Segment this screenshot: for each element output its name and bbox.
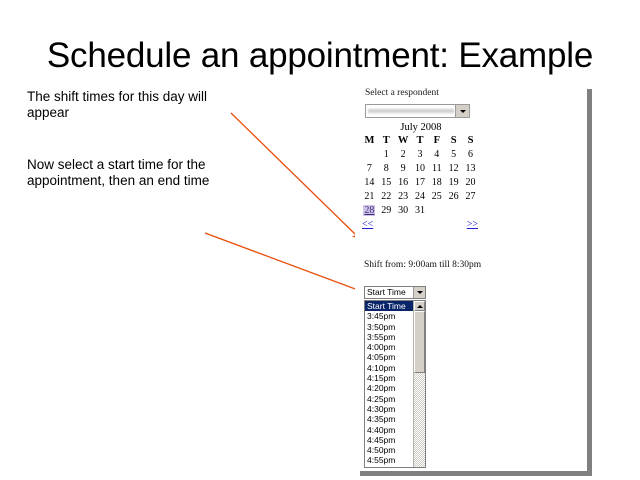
calendar-day-selected[interactable]: 28 xyxy=(361,203,378,217)
calendar-day-selected-label: 28 xyxy=(363,205,375,216)
calendar-day[interactable]: 15 xyxy=(378,175,395,189)
calendar-day[interactable]: 20 xyxy=(462,175,479,189)
calendar-day xyxy=(428,203,445,217)
calendar-day[interactable]: 25 xyxy=(428,189,445,203)
weekday-header: T xyxy=(378,134,395,147)
annotation-note-1: The shift times for this day will appear xyxy=(27,89,242,121)
list-item[interactable]: Start Time xyxy=(365,301,413,311)
calendar-day[interactable]: 18 xyxy=(428,175,445,189)
calendar-day[interactable]: 14 xyxy=(361,175,378,189)
arrow-to-calendar xyxy=(231,113,356,235)
weekday-header: W xyxy=(395,134,412,147)
chevron-down-icon[interactable] xyxy=(413,287,425,298)
list-item[interactable]: 4:10pm xyxy=(365,363,413,373)
respondent-value xyxy=(368,107,454,115)
list-item[interactable]: 3:45pm xyxy=(365,311,413,321)
calendar-navigation: << >> xyxy=(361,219,479,233)
arrow-to-time-list xyxy=(205,233,358,290)
start-time-options: Start Time 3:45pm 3:50pm 3:55pm 4:00pm 4… xyxy=(365,301,413,467)
list-item[interactable]: 4:50pm xyxy=(365,445,413,455)
calendar-day[interactable]: 3 xyxy=(412,147,429,161)
calendar-week-row: 14 15 16 17 18 19 20 xyxy=(361,175,479,189)
triangle-up-icon[interactable] xyxy=(414,301,425,311)
calendar-day[interactable]: 6 xyxy=(462,147,479,161)
calendar-day[interactable]: 5 xyxy=(445,147,462,161)
slide-canvas: Schedule an appointment: Example The shi… xyxy=(0,0,640,480)
page-title: Schedule an appointment: Example xyxy=(0,36,640,76)
start-time-select[interactable]: Start Time xyxy=(364,286,426,299)
calendar-day xyxy=(445,203,462,217)
list-item[interactable]: 4:40pm xyxy=(365,425,413,435)
list-item[interactable]: 4:30pm xyxy=(365,404,413,414)
calendar-prev-month-link[interactable]: << xyxy=(362,219,373,230)
list-item[interactable]: 4:35pm xyxy=(365,414,413,424)
calendar-day[interactable]: 31 xyxy=(412,203,429,217)
list-item[interactable]: 4:55pm xyxy=(365,455,413,465)
list-item[interactable]: 3:50pm xyxy=(365,322,413,332)
calendar-day xyxy=(361,147,378,161)
calendar-day[interactable]: 1 xyxy=(378,147,395,161)
weekday-header: S xyxy=(462,134,479,147)
calendar-day[interactable]: 4 xyxy=(428,147,445,161)
calendar-widget: July 2008 M T W T F S S xyxy=(361,122,481,233)
calendar-day[interactable]: 9 xyxy=(395,161,412,175)
calendar-week-row: 21 22 23 24 25 26 27 xyxy=(361,189,479,203)
calendar-week-row: 7 8 9 10 11 12 13 xyxy=(361,161,479,175)
calendar-next-month-link[interactable]: >> xyxy=(467,219,478,230)
respondent-label: Select a respondent xyxy=(365,88,439,98)
calendar-day[interactable]: 2 xyxy=(395,147,412,161)
calendar-day[interactable]: 7 xyxy=(361,161,378,175)
shift-hours-text: Shift from: 9:00am till 8:30pm xyxy=(364,260,481,270)
embedded-app-screenshot: Select a respondent July 2008 M T W T F xyxy=(355,84,587,471)
calendar-day[interactable]: 22 xyxy=(378,189,395,203)
calendar-day[interactable]: 29 xyxy=(378,203,395,217)
list-item[interactable]: 4:45pm xyxy=(365,435,413,445)
calendar-week-row: 1 2 3 4 5 6 xyxy=(361,147,479,161)
calendar-day[interactable]: 10 xyxy=(412,161,429,175)
calendar-day[interactable]: 21 xyxy=(361,189,378,203)
calendar-day[interactable]: 23 xyxy=(395,189,412,203)
calendar-grid: M T W T F S S 1 2 xyxy=(361,134,479,217)
calendar-day[interactable]: 16 xyxy=(395,175,412,189)
listbox-scrollbar[interactable] xyxy=(413,301,425,467)
respondent-select[interactable] xyxy=(365,104,470,118)
calendar-day[interactable]: 26 xyxy=(445,189,462,203)
annotation-note-2: Now select a start time for the appointm… xyxy=(27,157,242,189)
calendar-header-row: M T W T F S S xyxy=(361,134,479,147)
weekday-header: T xyxy=(412,134,429,147)
list-item[interactable]: 4:15pm xyxy=(365,373,413,383)
calendar-day[interactable]: 19 xyxy=(445,175,462,189)
calendar-day xyxy=(462,203,479,217)
start-time-listbox[interactable]: Start Time 3:45pm 3:50pm 3:55pm 4:00pm 4… xyxy=(364,300,426,468)
calendar-day[interactable]: 8 xyxy=(378,161,395,175)
calendar-day[interactable]: 30 xyxy=(395,203,412,217)
calendar-week-row: 28 29 30 31 xyxy=(361,203,479,217)
list-item[interactable]: 4:00pm xyxy=(365,342,413,352)
list-item[interactable]: 4:05pm xyxy=(365,352,413,362)
list-item[interactable]: 3:55pm xyxy=(365,332,413,342)
chevron-down-icon[interactable] xyxy=(455,105,469,117)
list-item[interactable]: 4:25pm xyxy=(365,394,413,404)
weekday-header: F xyxy=(428,134,445,147)
weekday-header: M xyxy=(361,134,378,147)
start-time-value: Start Time xyxy=(365,287,413,298)
calendar-day[interactable]: 12 xyxy=(445,161,462,175)
scrollbar-thumb[interactable] xyxy=(414,311,425,373)
calendar-day[interactable]: 13 xyxy=(462,161,479,175)
calendar-month-title: July 2008 xyxy=(361,122,481,133)
calendar-day[interactable]: 24 xyxy=(412,189,429,203)
calendar-day[interactable]: 17 xyxy=(412,175,429,189)
calendar-day[interactable]: 27 xyxy=(462,189,479,203)
calendar-day[interactable]: 11 xyxy=(428,161,445,175)
weekday-header: S xyxy=(445,134,462,147)
list-item[interactable]: 4:20pm xyxy=(365,383,413,393)
